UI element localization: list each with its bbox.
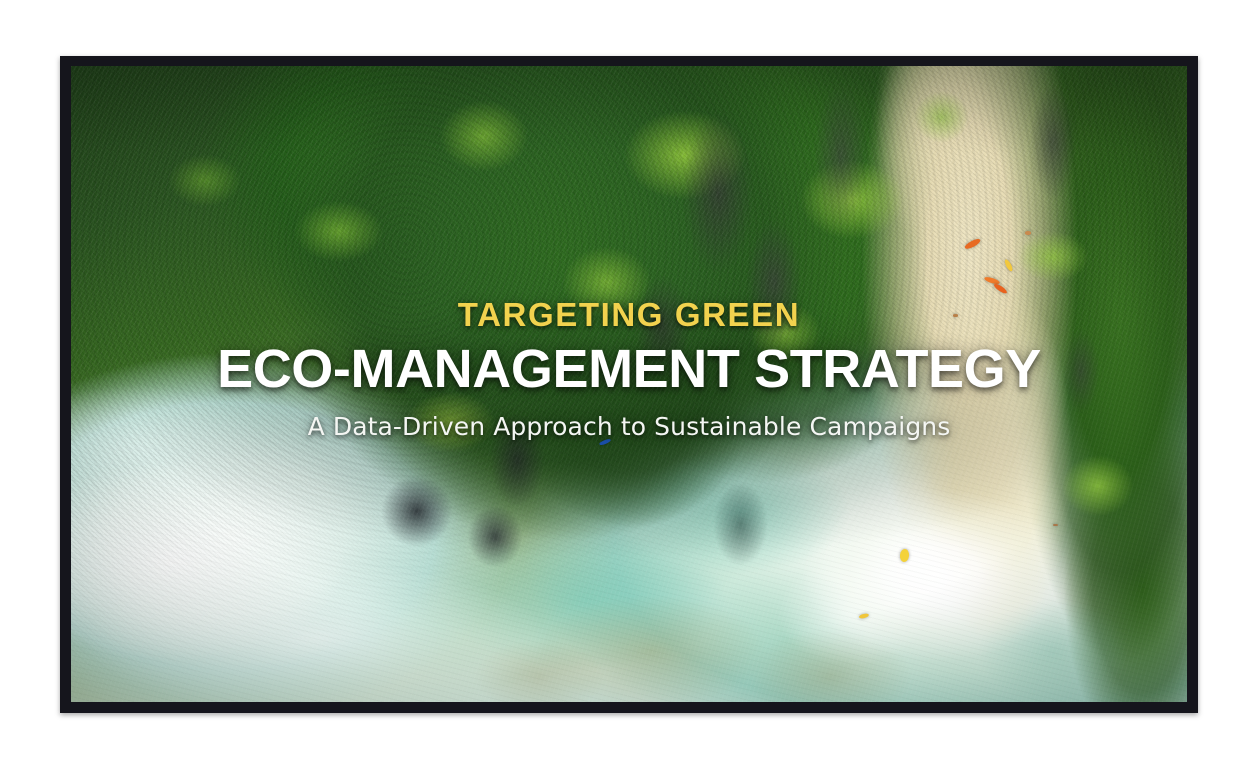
background-photo: [71, 66, 1187, 702]
swimmer-speck-c: [1053, 524, 1057, 527]
boat-blue-reef: [599, 438, 612, 446]
slide-frame: TARGETING GREEN ECO-MANAGEMENT STRATEGY …: [60, 56, 1198, 713]
photo-layer-watercraft: [71, 66, 1187, 702]
kayak-yellow-mid: [1003, 259, 1014, 273]
page-root: TARGETING GREEN ECO-MANAGEMENT STRATEGY …: [0, 0, 1258, 767]
kayak-orange-low: [993, 282, 1008, 294]
kayak-orange-upper: [963, 237, 980, 250]
slide-canvas: TARGETING GREEN ECO-MANAGEMENT STRATEGY …: [71, 66, 1187, 702]
kayak-yellow-small: [859, 613, 870, 620]
swimmer-speck-b: [953, 314, 959, 317]
swimmer-speck-a: [1025, 231, 1031, 234]
kayak-yellow-lagoon: [900, 549, 910, 563]
